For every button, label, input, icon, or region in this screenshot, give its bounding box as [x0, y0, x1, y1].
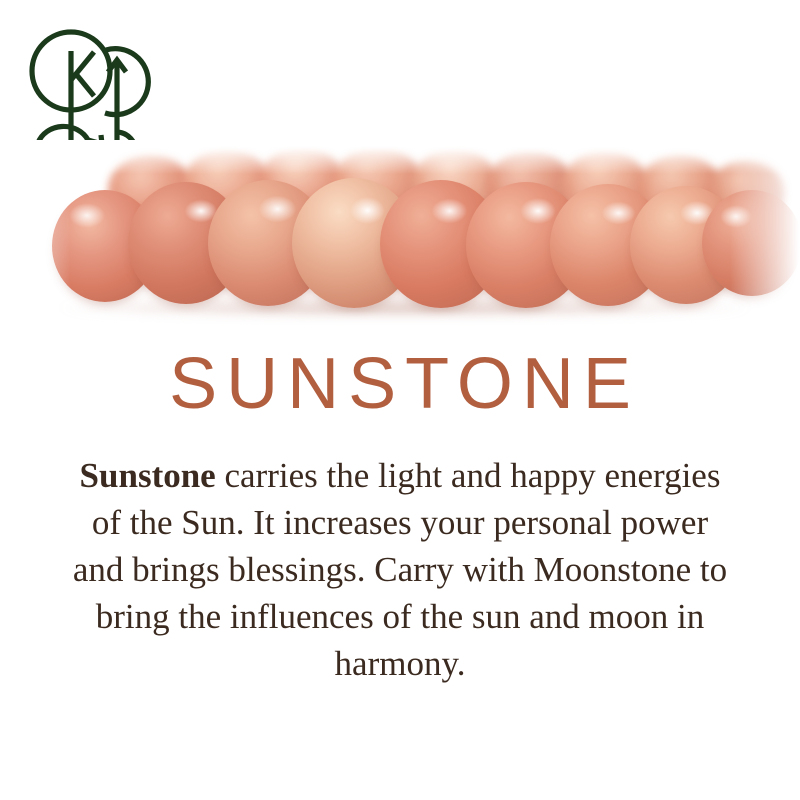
description-lead: Sunstone: [80, 456, 216, 495]
bead-highlight: [349, 196, 386, 225]
photo-fade-right: [730, 140, 800, 335]
photo-fade-top: [0, 140, 800, 174]
description-line-3: and brings blessings. Carry with Moonsto…: [8, 546, 792, 593]
bead-highlight: [601, 201, 636, 225]
description-line-4: bring the influences of the sun and moon…: [8, 593, 792, 640]
product-info-card: KITREE: [0, 0, 800, 800]
description-line-2: of the Sun. It increases your personal p…: [8, 499, 792, 546]
product-description: Sunstone carries the light and happy ene…: [8, 452, 792, 687]
description-line-1-rest: carries the light and happy energies: [216, 456, 721, 495]
bead-highlight: [69, 203, 105, 228]
bead-highlight: [519, 197, 557, 225]
product-photo: [0, 140, 800, 335]
photo-fade-left: [0, 140, 70, 335]
description-line-5: harmony.: [8, 640, 792, 687]
bracelet-image: [0, 140, 800, 335]
photo-fade-bottom: [0, 311, 800, 335]
bead-highlight: [431, 198, 468, 224]
tree-logo-icon: [14, 18, 174, 158]
page-title: SUNSTONE: [0, 346, 800, 422]
bead-highlight: [258, 195, 296, 223]
description-line-1: Sunstone carries the light and happy ene…: [8, 452, 792, 499]
